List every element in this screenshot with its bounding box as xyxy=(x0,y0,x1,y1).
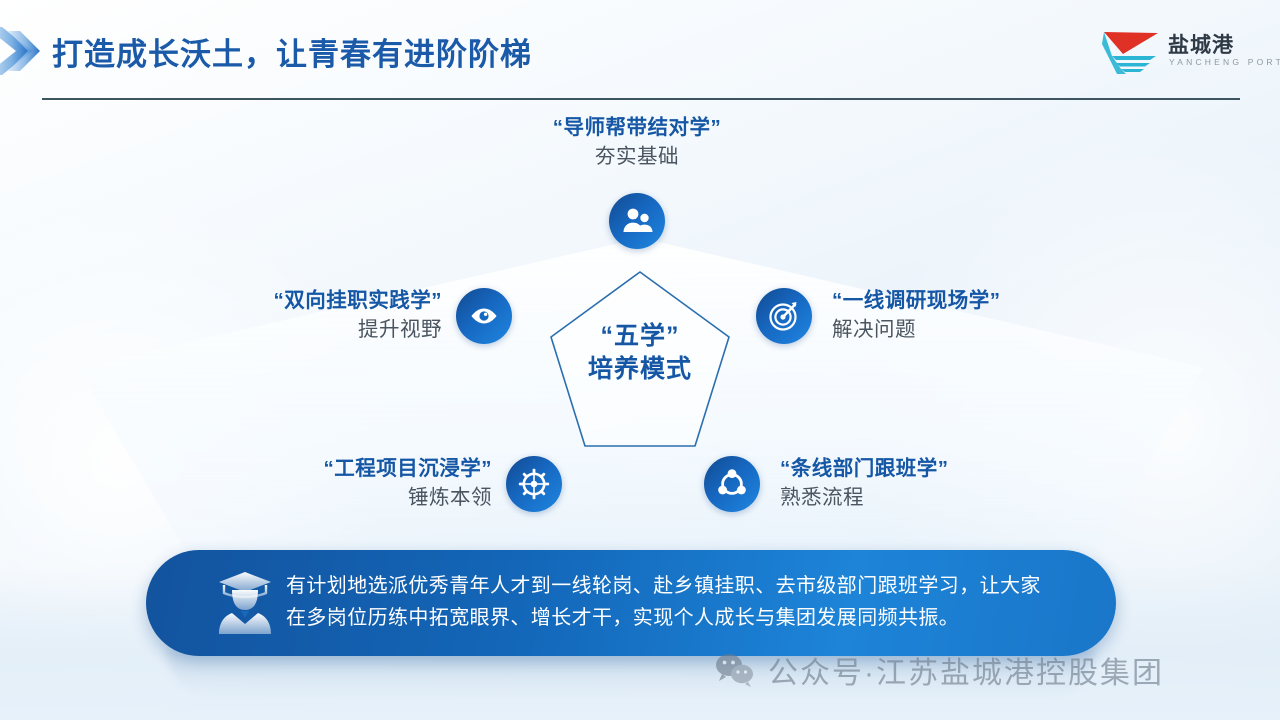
banner-paragraph: 有计划地选派优秀青年人才到一线轮岗、赴乡镇挂职、去市级部门跟班学习，让大家 在多… xyxy=(286,570,1086,635)
eye-icon xyxy=(456,288,512,344)
node-mentor-title: “导师帮带结对学” xyxy=(419,115,855,141)
node-frontline-research-subtitle: 解决问题 xyxy=(832,317,1092,344)
node-mentor-subtitle: 夯实基础 xyxy=(419,144,855,171)
node-mentor-text: “导师帮带结对学” 夯实基础 xyxy=(419,115,855,170)
node-project-immersion-subtitle: 锤炼本领 xyxy=(248,485,492,512)
watermark-text: 公众号·江苏盐城港控股集团 xyxy=(768,648,1164,692)
slide-header: 打造成长沃土，让青春有进阶阶梯 盐城港 YANCHENG PORT xyxy=(0,0,1280,110)
chevron-right-icon xyxy=(0,27,52,75)
banner-line1: 有计划地选派优秀青年人才到一线轮岗、赴乡镇挂职、去市级部门跟班学习，让大家 xyxy=(286,570,1086,602)
node-frontline-research-title: “一线调研现场学” xyxy=(832,288,1092,314)
node-dual-post-title: “双向挂职实践学” xyxy=(196,288,442,314)
node-dual-post-text: “双向挂职实践学” 提升视野 xyxy=(196,288,442,343)
graduate-student-icon xyxy=(208,566,282,640)
center-label-line1: “五学” xyxy=(543,320,737,353)
two-people-icon xyxy=(609,193,665,249)
brand-logo: 盐城港 YANCHENG PORT xyxy=(1100,26,1250,82)
ship-helm-icon xyxy=(506,456,562,512)
node-department-shadowing-subtitle: 熟悉流程 xyxy=(780,485,1040,512)
center-label: “五学” 培养模式 xyxy=(543,320,737,386)
node-project-immersion-title: “工程项目沉浸学” xyxy=(248,456,492,482)
node-frontline-research-text: “一线调研现场学” 解决问题 xyxy=(832,288,1092,343)
node-department-shadowing-text: “条线部门跟班学” 熟悉流程 xyxy=(780,456,1040,511)
logo-name-cn: 盐城港 xyxy=(1168,29,1234,59)
page-title: 打造成长沃土，让青春有进阶阶梯 xyxy=(52,29,532,74)
node-department-shadowing-title: “条线部门跟班学” xyxy=(780,456,1040,482)
watermark: 公众号·江苏盐城港控股集团 xyxy=(714,648,1164,692)
wechat-icon xyxy=(714,652,756,688)
slide-root: 打造成长沃土，让青春有进阶阶梯 盐城港 YANCHENG PORT “五学” 培… xyxy=(0,0,1280,720)
target-icon xyxy=(756,288,812,344)
sail-wave-logo-icon xyxy=(1100,30,1162,76)
banner-line2: 在多岗位历练中拓宽眼界、增长才干，实现个人成长与集团发展同频共振。 xyxy=(286,602,1086,634)
node-project-immersion-text: “工程项目沉浸学” 锤炼本领 xyxy=(248,456,492,511)
center-label-line2: 培养模式 xyxy=(543,353,737,386)
node-dual-post-subtitle: 提升视野 xyxy=(196,317,442,344)
share-network-icon xyxy=(704,456,760,512)
summary-banner: 有计划地选派优秀青年人才到一线轮岗、赴乡镇挂职、去市级部门跟班学习，让大家 在多… xyxy=(146,550,1116,656)
header-divider xyxy=(42,98,1240,100)
logo-name-en: YANCHENG PORT xyxy=(1169,57,1280,67)
